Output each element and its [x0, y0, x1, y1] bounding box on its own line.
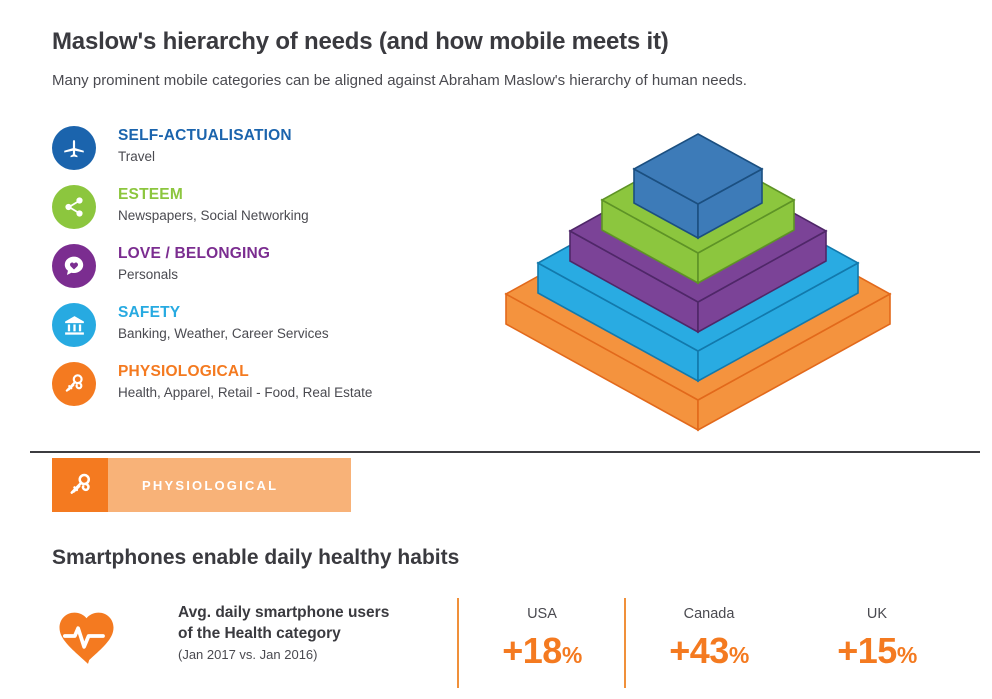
legend-item-love-belonging: LOVE / BELONGING Personals	[52, 244, 472, 303]
stat-description-note: (Jan 2017 vs. Jan 2016)	[178, 647, 389, 662]
stat-value: +18%	[457, 630, 627, 676]
health-stats-row: Avg. daily smartphone users of the Healt…	[52, 596, 952, 692]
legend-label: LOVE / BELONGING	[118, 244, 270, 263]
stat-unit: %	[897, 642, 917, 668]
speech-heart-icon	[52, 244, 96, 288]
legend-item-physiological: PHYSIOLOGICAL Health, Apparel, Retail - …	[52, 362, 472, 421]
stat-column-uk: UK +15%	[792, 596, 962, 676]
stat-unit: %	[562, 642, 582, 668]
infographic-page: Maslow's hierarchy of needs (and how mob…	[0, 0, 992, 699]
banner-label: PHYSIOLOGICAL	[108, 478, 278, 493]
legend-label: ESTEEM	[118, 185, 309, 204]
maslow-pyramid	[486, 118, 936, 448]
stat-column-canada: Canada +43%	[624, 596, 794, 676]
legend-label: SAFETY	[118, 303, 329, 322]
stat-country-label: UK	[792, 596, 962, 622]
legend-sublabel: Banking, Weather, Career Services	[118, 324, 329, 344]
airplane-icon	[52, 126, 96, 170]
needs-legend: SELF-ACTUALISATION Travel ESTEEM Newspap…	[52, 126, 472, 421]
stat-country-label: USA	[457, 596, 627, 622]
legend-sublabel: Personals	[118, 265, 270, 285]
section-title: Smartphones enable daily healthy habits	[52, 546, 459, 570]
keys-icon	[52, 362, 96, 406]
banner-label-bar: PHYSIOLOGICAL	[108, 458, 351, 512]
legend-item-self-actualisation: SELF-ACTUALISATION Travel	[52, 126, 472, 185]
stat-country-label: Canada	[624, 596, 794, 622]
heart-pulse-icon	[52, 600, 124, 672]
stat-description-line1: Avg. daily smartphone users	[178, 602, 389, 623]
share-icon	[52, 185, 96, 229]
stat-description-line2: of the Health category	[178, 623, 389, 644]
legend-label: PHYSIOLOGICAL	[118, 362, 372, 381]
bank-icon	[52, 303, 96, 347]
page-title: Maslow's hierarchy of needs (and how mob…	[52, 28, 669, 56]
page-subtitle: Many prominent mobile categories can be …	[52, 72, 747, 89]
stat-number: +15	[837, 630, 897, 671]
keys-icon	[52, 458, 108, 512]
stat-unit: %	[729, 642, 749, 668]
legend-sublabel: Travel	[118, 147, 292, 167]
stat-column-usa: USA +18%	[457, 596, 627, 676]
legend-item-safety: SAFETY Banking, Weather, Career Services	[52, 303, 472, 362]
physiological-banner: PHYSIOLOGICAL	[52, 458, 351, 512]
stat-number: +18	[502, 630, 562, 671]
stat-number: +43	[669, 630, 729, 671]
stat-value: +43%	[624, 630, 794, 676]
legend-sublabel: Health, Apparel, Retail - Food, Real Est…	[118, 383, 372, 403]
stat-description: Avg. daily smartphone users of the Healt…	[52, 596, 389, 672]
legend-sublabel: Newspapers, Social Networking	[118, 206, 309, 226]
legend-item-esteem: ESTEEM Newspapers, Social Networking	[52, 185, 472, 244]
legend-label: SELF-ACTUALISATION	[118, 126, 292, 145]
section-divider	[30, 451, 980, 453]
stat-value: +15%	[792, 630, 962, 676]
